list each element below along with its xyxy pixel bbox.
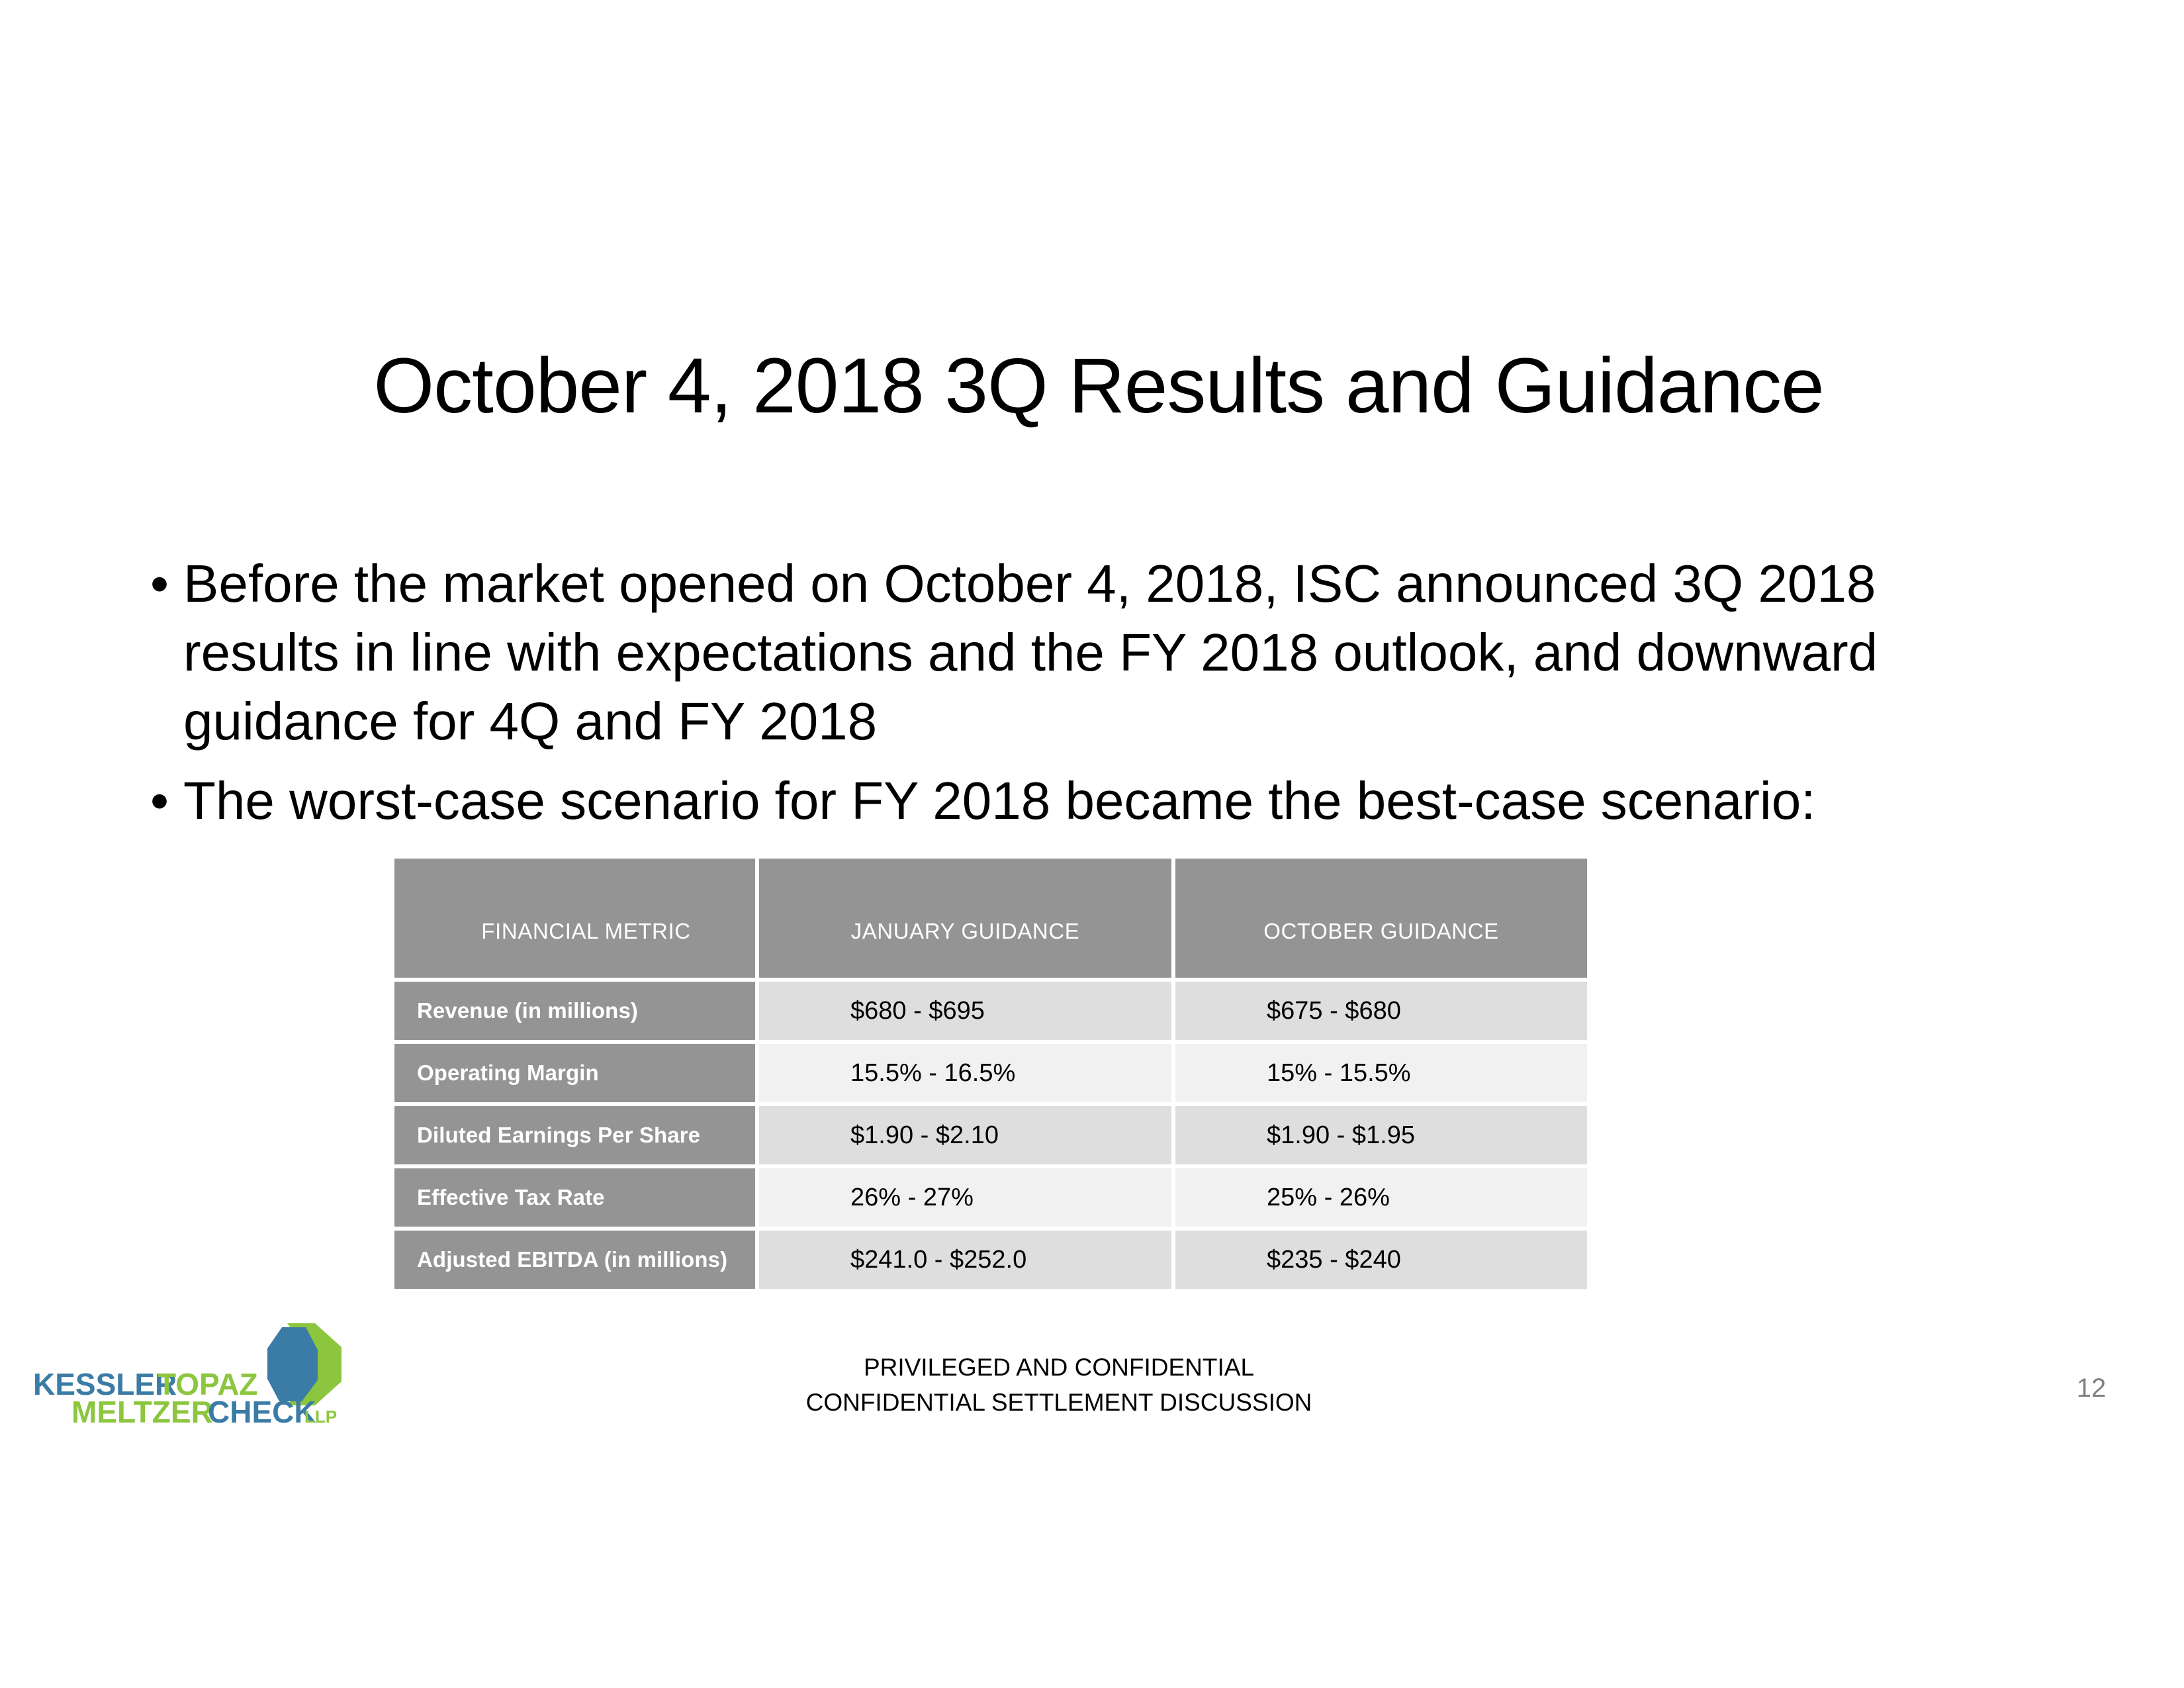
cell-october: 25% - 26% xyxy=(1175,1168,1587,1227)
column-header-metric: FINANCIAL METRIC xyxy=(394,859,755,978)
value-october: 15% - 15.5% xyxy=(1175,1059,1587,1088)
cell-metric: Revenue (in millions) xyxy=(394,982,755,1040)
table-row: Diluted Earnings Per Share $1.90 - $2.10… xyxy=(394,1106,1587,1164)
value-october: $675 - $680 xyxy=(1175,997,1587,1025)
slide-canvas: October 4, 2018 3Q Results and Guidance … xyxy=(0,0,2184,1688)
value-october: 25% - 26% xyxy=(1175,1184,1587,1212)
table-row: Operating Margin 15.5% - 16.5% 15% - 15.… xyxy=(394,1044,1587,1102)
column-header-january: JANUARY GUIDANCE xyxy=(759,859,1171,978)
table-row: Effective Tax Rate 26% - 27% 25% - 26% xyxy=(394,1168,1587,1227)
page-number: 12 xyxy=(2045,1374,2138,1403)
logo-blue-hexagon-icon xyxy=(267,1327,318,1401)
column-header-label: JANUARY GUIDANCE xyxy=(759,892,1171,944)
value-january: $680 - $695 xyxy=(759,997,1171,1025)
column-header-label: OCTOBER GUIDANCE xyxy=(1175,892,1587,944)
cell-october: $235 - $240 xyxy=(1175,1231,1587,1289)
value-october: $1.90 - $1.95 xyxy=(1175,1121,1587,1150)
table-row: Adjusted EBITDA (in millions) $241.0 - $… xyxy=(394,1231,1587,1289)
cell-metric: Adjusted EBITDA (in millions) xyxy=(394,1231,755,1289)
bullet-text: The worst-case scenario for FY 2018 beca… xyxy=(183,767,2101,835)
metric-label: Adjusted EBITDA (in millions) xyxy=(394,1247,755,1272)
firm-logo-icon: KESSLER TOPAZ MELTZER CHECK LLP xyxy=(28,1321,372,1427)
bullet-text: Before the market opened on October 4, 2… xyxy=(183,549,1957,756)
confidentiality-line-1: PRIVILEGED AND CONFIDENTIAL xyxy=(662,1350,1456,1385)
cell-metric: Diluted Earnings Per Share xyxy=(394,1106,755,1164)
column-header-label: FINANCIAL METRIC xyxy=(394,892,755,944)
cell-metric: Effective Tax Rate xyxy=(394,1168,755,1227)
table-header-row: FINANCIAL METRIC JANUARY GUIDANCE OCTOBE… xyxy=(394,859,1587,978)
list-item: • Before the market opened on October 4,… xyxy=(142,549,2101,756)
cell-january: $241.0 - $252.0 xyxy=(759,1231,1171,1289)
value-january: $241.0 - $252.0 xyxy=(759,1246,1171,1274)
value-january: 26% - 27% xyxy=(759,1184,1171,1212)
bullet-marker-icon: • xyxy=(142,549,183,618)
table-row: Revenue (in millions) $680 - $695 $675 -… xyxy=(394,982,1587,1040)
cell-metric: Operating Margin xyxy=(394,1044,755,1102)
cell-january: 15.5% - 16.5% xyxy=(759,1044,1171,1102)
page-title: October 4, 2018 3Q Results and Guidance xyxy=(119,341,2078,432)
logo-word-check: CHECK xyxy=(208,1395,316,1427)
firm-logo: KESSLER TOPAZ MELTZER CHECK LLP xyxy=(28,1321,372,1427)
confidentiality-note: PRIVILEGED AND CONFIDENTIAL CONFIDENTIAL… xyxy=(662,1350,1456,1420)
list-item: • The worst-case scenario for FY 2018 be… xyxy=(142,767,2101,835)
metric-label: Operating Margin xyxy=(394,1060,755,1086)
cell-october: $675 - $680 xyxy=(1175,982,1587,1040)
cell-january: $680 - $695 xyxy=(759,982,1171,1040)
cell-october: $1.90 - $1.95 xyxy=(1175,1106,1587,1164)
confidentiality-line-2: CONFIDENTIAL SETTLEMENT DISCUSSION xyxy=(662,1385,1456,1421)
bullet-list: • Before the market opened on October 4,… xyxy=(142,549,2101,846)
value-january: $1.90 - $2.10 xyxy=(759,1121,1171,1150)
column-header-october: OCTOBER GUIDANCE xyxy=(1175,859,1587,978)
cell-january: $1.90 - $2.10 xyxy=(759,1106,1171,1164)
cell-october: 15% - 15.5% xyxy=(1175,1044,1587,1102)
metric-label: Effective Tax Rate xyxy=(394,1185,755,1210)
logo-word-meltzer: MELTZER xyxy=(71,1395,213,1427)
metric-label: Revenue (in millions) xyxy=(394,998,755,1023)
value-january: 15.5% - 16.5% xyxy=(759,1059,1171,1088)
logo-word-llp: LLP xyxy=(304,1407,337,1427)
value-october: $235 - $240 xyxy=(1175,1246,1587,1274)
bullet-marker-icon: • xyxy=(142,767,183,835)
cell-january: 26% - 27% xyxy=(759,1168,1171,1227)
guidance-table: FINANCIAL METRIC JANUARY GUIDANCE OCTOBE… xyxy=(390,855,1591,1293)
metric-label: Diluted Earnings Per Share xyxy=(394,1123,755,1148)
